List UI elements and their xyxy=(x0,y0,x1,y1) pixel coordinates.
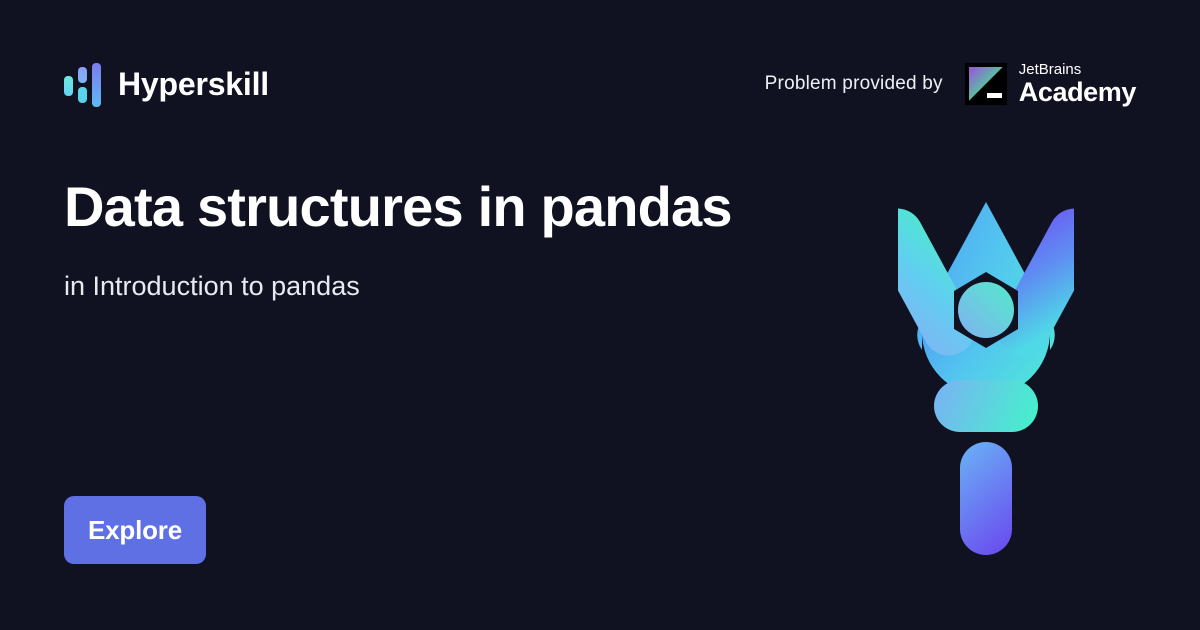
pandas-logo-illustration xyxy=(898,180,1074,555)
brand-name: Hyperskill xyxy=(118,68,269,100)
hyperskill-brand[interactable]: Hyperskill xyxy=(64,60,269,108)
jetbrains-wordmark-top: JetBrains xyxy=(1019,62,1136,77)
main-content: Data structures in pandas in Introductio… xyxy=(64,168,844,302)
page-header: Hyperskill Problem provided by JetBrains… xyxy=(0,0,1200,168)
jetbrains-wordmark-bottom: Academy xyxy=(1019,79,1136,106)
hyperskill-bars-icon xyxy=(64,61,102,107)
jetbrains-wordmark: JetBrains Academy xyxy=(1019,62,1136,106)
explore-button[interactable]: Explore xyxy=(64,496,206,564)
page-subtitle: in Introduction to pandas xyxy=(64,271,844,302)
provider-attribution: Problem provided by JetBrains Academy xyxy=(765,58,1136,110)
jetbrains-square-icon xyxy=(965,63,1007,105)
page-title: Data structures in pandas xyxy=(64,176,844,239)
jetbrains-academy-logo[interactable]: JetBrains Academy xyxy=(965,62,1136,106)
provider-label: Problem provided by xyxy=(765,73,943,95)
